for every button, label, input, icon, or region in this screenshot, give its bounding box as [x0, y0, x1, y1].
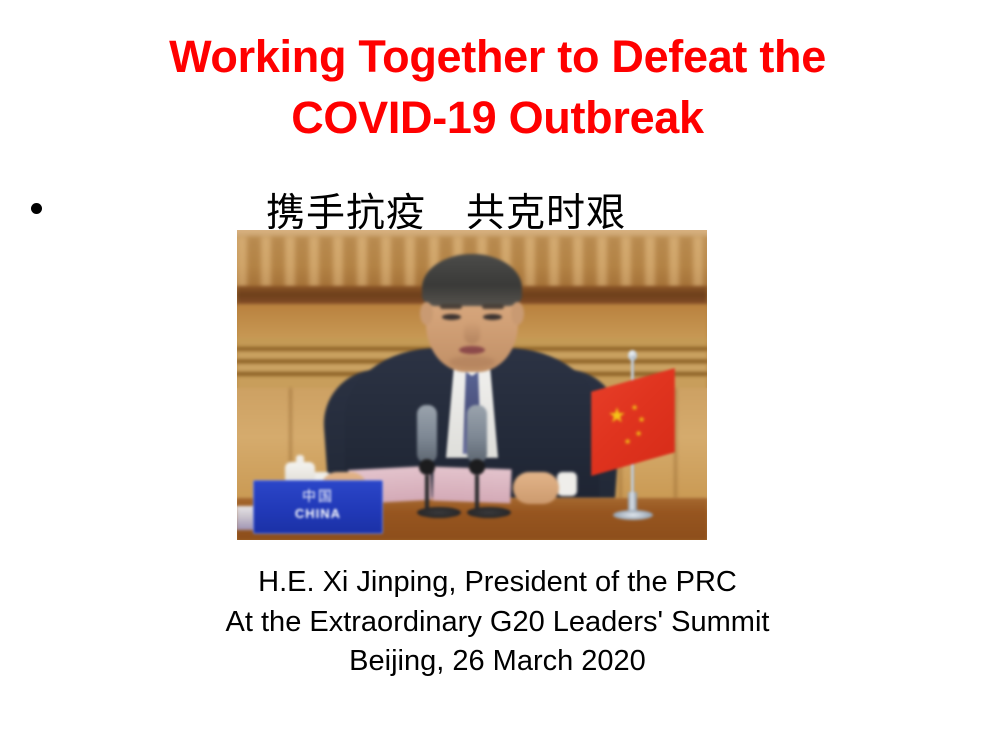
right-ear — [511, 302, 524, 325]
microphone-right — [467, 405, 487, 518]
mic-joint — [419, 459, 435, 475]
hair — [422, 254, 522, 306]
presentation-slide: Working Together to Defeat the COVID-19 … — [0, 0, 995, 731]
xi-jinping-photo: 中国 CHINA ★ ★ ★ ★ ★ — [237, 230, 707, 540]
china-flag-icon: ★ ★ ★ ★ ★ — [587, 350, 683, 526]
mic-base — [417, 507, 461, 518]
nameplate-chinese-label: 中国 — [302, 490, 334, 504]
right-hand — [513, 472, 559, 504]
flag-big-star-icon: ★ — [608, 406, 626, 426]
right-eye — [483, 314, 502, 320]
photo-caption: H.E. Xi Jinping, President of the PRC At… — [0, 563, 995, 682]
left-eye — [442, 314, 461, 320]
country-nameplate: 中国 CHINA — [253, 480, 383, 534]
mic-stem — [425, 475, 429, 509]
bullet-dot-icon — [31, 203, 42, 214]
mic-stem — [475, 475, 479, 509]
left-ear — [420, 302, 433, 325]
flag-small-star-icon-1: ★ — [631, 404, 638, 412]
right-eyebrow — [482, 304, 504, 309]
microphone-left — [417, 405, 437, 518]
mouth — [459, 346, 485, 354]
title-line-2: COVID-19 Outbreak — [60, 87, 935, 148]
flag-small-star-icon-2: ★ — [638, 416, 645, 424]
mic-joint — [469, 459, 485, 475]
nameplate-english-label: CHINA — [295, 504, 341, 524]
mic-head — [417, 405, 437, 463]
flag-cloth: ★ ★ ★ ★ ★ — [591, 368, 675, 476]
caption-line-3: Beijing, 26 March 2020 — [0, 642, 995, 682]
chin-shadow — [449, 356, 495, 368]
caption-line-2: At the Extraordinary G20 Leaders' Summit — [0, 603, 995, 643]
flag-small-star-icon-4: ★ — [624, 438, 631, 446]
flag-stand-base — [613, 510, 653, 520]
mic-head — [467, 405, 487, 463]
page-title: Working Together to Defeat the COVID-19 … — [60, 26, 935, 148]
flag-small-star-icon-3: ★ — [635, 430, 642, 438]
right-shirt-cuff — [557, 472, 577, 496]
left-eyebrow — [440, 304, 462, 309]
nose — [464, 322, 480, 344]
caption-line-1: H.E. Xi Jinping, President of the PRC — [0, 563, 995, 603]
title-line-1: Working Together to Defeat the — [60, 26, 935, 87]
mic-base — [467, 507, 511, 518]
